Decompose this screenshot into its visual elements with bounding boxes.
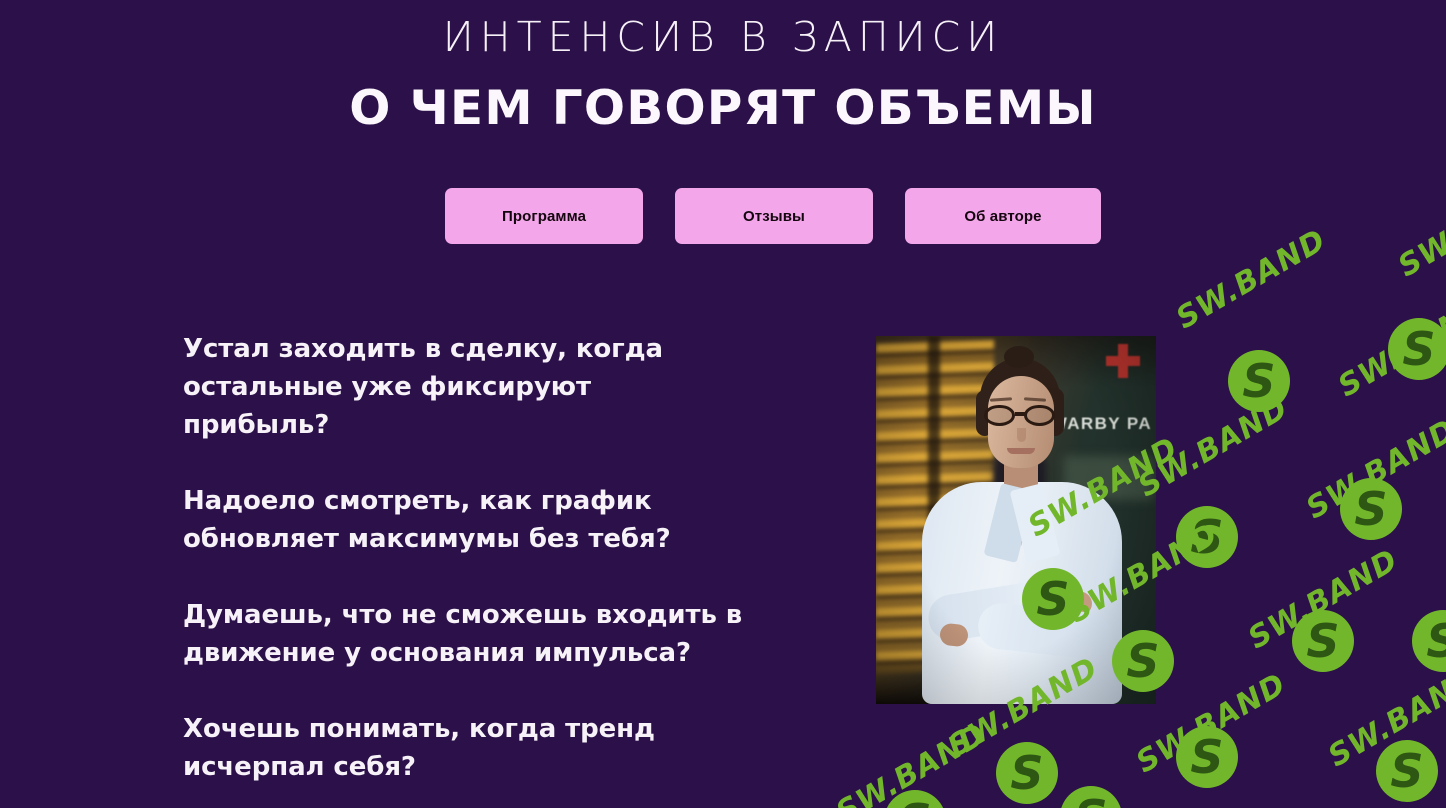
- watermark-text: SW.BAND: [830, 717, 992, 808]
- nav-button-row: Программа Отзывы Об авторе: [445, 188, 1105, 244]
- copy-paragraph-3: Думаешь, что не сможешь входить в движен…: [183, 596, 743, 672]
- watermark-logo-icon: [1376, 740, 1438, 802]
- nav-button-programma[interactable]: Программа: [445, 188, 643, 244]
- watermark-text: SW.BAND: [1170, 223, 1332, 337]
- watermark-logo-icon: [1388, 318, 1446, 380]
- copy-column: Устал заходить в сделку, когда остальные…: [183, 330, 743, 786]
- watermark-label: SW.BAND: [1170, 223, 1332, 337]
- sw-band-logo-icon: [1292, 610, 1354, 672]
- person-figure: [876, 336, 1156, 704]
- lens-right: [1024, 405, 1055, 426]
- copy-paragraph-1: Устал заходить в сделку, когда остальные…: [183, 330, 743, 444]
- watermark-text: SW.BAND: [1332, 291, 1446, 405]
- watermark-label: SW.BAND: [830, 717, 992, 808]
- sw-band-logo-icon: [1340, 478, 1402, 540]
- watermark-logo-icon: [884, 790, 946, 808]
- sw-band-logo-icon: [1060, 786, 1122, 808]
- watermark-logo-icon: [1176, 726, 1238, 788]
- watermark-logo-icon: [1292, 610, 1354, 672]
- watermark-text: SW.BAND: [1242, 543, 1404, 657]
- landing-page: ИНТЕНСИВ В ЗАПИСИ О ЧЕМ ГОВОРЯТ ОБЪЕМЫ П…: [0, 0, 1446, 808]
- eyebrow-title: ИНТЕНСИВ В ЗАПИСИ: [0, 14, 1446, 61]
- nav-button-otzyvy[interactable]: Отзывы: [675, 188, 873, 244]
- sw-band-logo-icon: [884, 790, 946, 808]
- watermark-logo-icon: [1340, 478, 1402, 540]
- watermark-label: SW.BAND: [1332, 291, 1446, 405]
- watermark-label: SW.BAND: [1242, 543, 1404, 657]
- watermark-logo-icon: [1060, 786, 1122, 808]
- copy-paragraph-4: Хочешь понимать, когда тренд исчерпал се…: [183, 710, 743, 786]
- sw-band-logo-icon: [1228, 350, 1290, 412]
- copy-paragraph-2: Надоело смотреть, как график обновляет м…: [183, 482, 743, 558]
- watermark-logo-icon: [1176, 506, 1238, 568]
- mouth: [1007, 448, 1035, 454]
- sw-band-logo-icon: [1176, 726, 1238, 788]
- page-header: ИНТЕНСИВ В ЗАПИСИ О ЧЕМ ГОВОРЯТ ОБЪЕМЫ: [0, 0, 1446, 135]
- watermark-logo-icon: [1412, 610, 1446, 672]
- watermark-label: SW.BAND: [1322, 661, 1446, 775]
- eyeglasses-icon: [984, 405, 1058, 426]
- sw-band-logo-icon: [1388, 318, 1446, 380]
- sw-band-logo-icon: [996, 742, 1058, 804]
- watermark-label: SW.BAND: [1392, 171, 1446, 285]
- page-title: О ЧЕМ ГОВОРЯТ ОБЪЕМЫ: [0, 83, 1446, 135]
- nose: [1017, 428, 1026, 442]
- watermark-logo-icon: [1228, 350, 1290, 412]
- lens-left: [984, 405, 1015, 426]
- sw-band-logo-icon: [1412, 610, 1446, 672]
- author-photo: WARBY PA: [876, 336, 1156, 704]
- sw-band-logo-icon: [1176, 506, 1238, 568]
- watermark-text: SW.BAND: [1300, 413, 1446, 527]
- nav-button-ob-avtore[interactable]: Об авторе: [905, 188, 1101, 244]
- watermark-label: SW.BAND: [1300, 413, 1446, 527]
- watermark-label: SW.BAND: [1132, 391, 1294, 505]
- watermark-logo-icon: [996, 742, 1058, 804]
- watermark-text: SW.BAND: [1392, 171, 1446, 285]
- hair-bun: [1004, 346, 1034, 368]
- watermark-text: SW.BAND: [1132, 391, 1294, 505]
- watermark-text: SW.BAND: [1322, 661, 1446, 775]
- sw-band-logo-icon: [1376, 740, 1438, 802]
